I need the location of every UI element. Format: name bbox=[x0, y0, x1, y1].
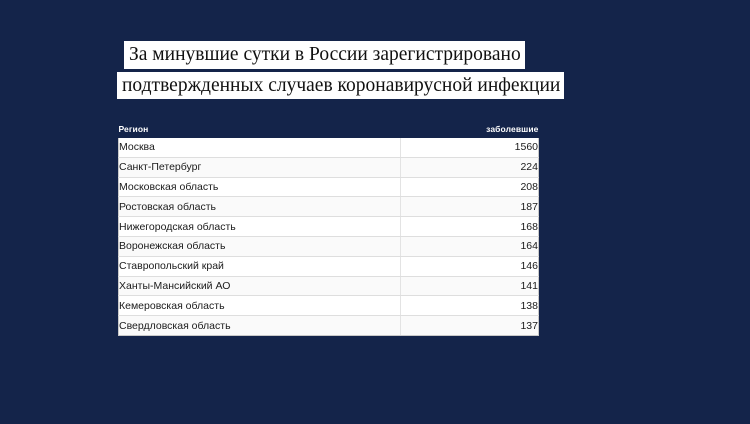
cell-region: Московская область bbox=[119, 177, 401, 197]
title-line-1: За минувшие сутки в России зарегистриров… bbox=[124, 41, 525, 69]
table-row: Воронежская область164 bbox=[119, 236, 539, 256]
cell-region: Воронежская область bbox=[119, 236, 401, 256]
cell-region: Ростовская область bbox=[119, 197, 401, 217]
column-header-cases: заболевшие bbox=[401, 124, 539, 138]
cell-cases: 208 bbox=[401, 177, 539, 197]
title-line-2: подтвержденных случаев коронавирусной ин… bbox=[117, 72, 564, 100]
cell-cases: 146 bbox=[401, 256, 539, 276]
table-row: Нижегородская область168 bbox=[119, 217, 539, 237]
statistics-table-container: Регион заболевшие Москва1560Санкт-Петерб… bbox=[118, 124, 538, 336]
cell-cases: 141 bbox=[401, 276, 539, 296]
table-row: Ханты-Мансийский АО141 bbox=[119, 276, 539, 296]
table-row: Ростовская область187 bbox=[119, 197, 539, 217]
cell-region: Москва bbox=[119, 138, 401, 157]
table-row: Санкт-Петербург224 bbox=[119, 157, 539, 177]
statistics-table: Регион заболевшие Москва1560Санкт-Петерб… bbox=[118, 124, 539, 336]
cell-region: Нижегородская область bbox=[119, 217, 401, 237]
cell-cases: 187 bbox=[401, 197, 539, 217]
title-line-1-text: За минувшие сутки в России зарегистриров… bbox=[124, 41, 525, 69]
cell-cases: 137 bbox=[401, 316, 539, 336]
cell-region: Кемеровская область bbox=[119, 296, 401, 316]
cell-cases: 224 bbox=[401, 157, 539, 177]
table-row: Московская область208 bbox=[119, 177, 539, 197]
cell-region: Свердловская область bbox=[119, 316, 401, 336]
cell-cases: 1560 bbox=[401, 138, 539, 157]
slide-title: За минувшие сутки в России зарегистриров… bbox=[0, 41, 750, 99]
slide-canvas: За минувшие сутки в России зарегистриров… bbox=[0, 0, 750, 424]
table-row: Кемеровская область138 bbox=[119, 296, 539, 316]
cell-cases: 138 bbox=[401, 296, 539, 316]
table-row: Ставропольский край146 bbox=[119, 256, 539, 276]
title-line-2-text: подтвержденных случаев коронавирусной ин… bbox=[117, 72, 564, 100]
cell-cases: 164 bbox=[401, 236, 539, 256]
table-row: Москва1560 bbox=[119, 138, 539, 157]
column-header-region: Регион bbox=[119, 124, 401, 138]
table-header-row: Регион заболевшие bbox=[119, 124, 539, 138]
table-header: Регион заболевшие bbox=[119, 124, 539, 138]
cell-region: Ставропольский край bbox=[119, 256, 401, 276]
cell-region: Санкт-Петербург bbox=[119, 157, 401, 177]
cell-cases: 168 bbox=[401, 217, 539, 237]
cell-region: Ханты-Мансийский АО bbox=[119, 276, 401, 296]
table-row: Свердловская область137 bbox=[119, 316, 539, 336]
table-body: Москва1560Санкт-Петербург224Московская о… bbox=[119, 138, 539, 335]
